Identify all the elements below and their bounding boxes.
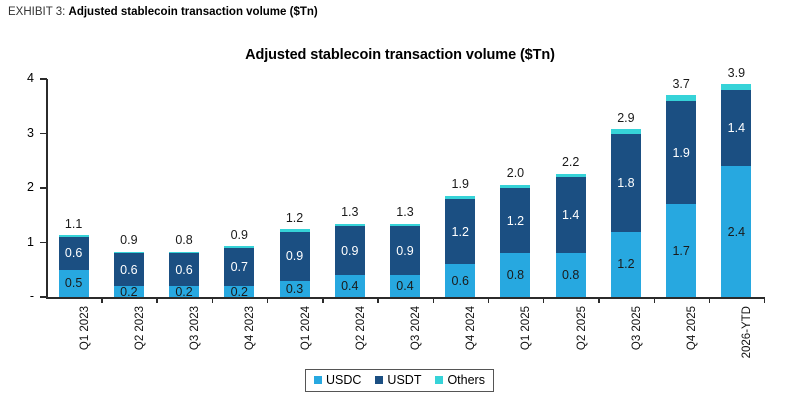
x-axis-category-label: Q3 2023 <box>189 306 201 350</box>
bar-segment-usdt: 1.8 <box>611 134 641 232</box>
bar-group: 0.81.22.0 <box>500 79 530 297</box>
bar-segment-usdt: 0.9 <box>335 226 365 275</box>
bar-segment-value-label: 0.3 <box>280 283 310 296</box>
bar-segment-value-label: 1.2 <box>500 215 530 228</box>
bar-total-label: 1.3 <box>390 206 420 219</box>
bar-segment-usdt: 0.7 <box>224 248 254 286</box>
bar-segment-value-label: 0.5 <box>59 277 89 290</box>
bar-segment-usdc: 0.6 <box>445 264 475 297</box>
bar-segment-value-label: 0.8 <box>500 269 530 282</box>
legend-item-label: USDC <box>326 373 361 387</box>
x-axis-category-label: Q2 2023 <box>134 306 146 350</box>
bar-segment-others <box>224 246 254 248</box>
bar-segment-value-label: 0.9 <box>280 250 310 263</box>
bar-segment-others <box>335 224 365 226</box>
bar-segment-others <box>721 84 751 89</box>
bar-segment-value-label: 1.4 <box>556 209 586 222</box>
bar-group: 0.61.21.9 <box>445 79 475 297</box>
bar-total-label: 0.9 <box>114 234 144 247</box>
x-axis-tick <box>377 297 378 303</box>
x-axis-tick <box>267 297 268 303</box>
x-axis-tick <box>212 297 213 303</box>
x-axis-tick <box>654 297 655 303</box>
y-axis-tick-label: 3 <box>4 128 34 138</box>
legend-item-label: USDT <box>387 373 421 387</box>
x-axis-category-label: Q1 2023 <box>79 306 91 350</box>
bar-segment-others <box>114 252 144 254</box>
legend-item[interactable]: USDT <box>375 373 421 387</box>
x-axis-category-label: Q2 2024 <box>355 306 367 350</box>
bar-segment-usdt: 0.6 <box>169 253 199 286</box>
bar-segment-usdc: 0.2 <box>114 286 144 297</box>
bar-segment-value-label: 0.9 <box>335 245 365 258</box>
bar-group: 0.30.91.2 <box>280 79 310 297</box>
bar-segment-usdc: 0.8 <box>556 253 586 297</box>
chart-plot-area: -1234 0.50.61.10.20.60.90.20.60.80.20.70… <box>0 0 800 408</box>
bar-segment-value-label: 0.2 <box>224 286 254 299</box>
bar-group: 0.20.60.8 <box>169 79 199 297</box>
legend-item[interactable]: Others <box>435 373 485 387</box>
x-axis-tick <box>101 297 102 303</box>
x-axis-tick <box>543 297 544 303</box>
bar-segment-usdt: 1.2 <box>445 199 475 264</box>
bar-segment-usdt: 0.6 <box>114 253 144 286</box>
bar-segment-value-label: 0.6 <box>445 275 475 288</box>
bar-group: 0.20.70.9 <box>224 79 254 297</box>
bar-segment-others <box>280 229 310 231</box>
bar-group: 1.71.93.7 <box>666 79 696 297</box>
bar-segment-value-label: 0.6 <box>59 247 89 260</box>
bar-total-label: 1.9 <box>445 178 475 191</box>
bar-segment-value-label: 0.4 <box>390 280 420 293</box>
bar-group: 0.40.91.3 <box>335 79 365 297</box>
x-axis-tick <box>433 297 434 303</box>
bar-segment-value-label: 1.2 <box>611 258 641 271</box>
bar-segment-others <box>500 185 530 188</box>
bar-total-label: 0.9 <box>224 229 254 242</box>
bar-segment-value-label: 0.9 <box>390 245 420 258</box>
legend-item[interactable]: USDC <box>314 373 361 387</box>
bar-segment-value-label: 1.9 <box>666 147 696 160</box>
bar-segment-usdc: 1.7 <box>666 204 696 297</box>
bar-segment-usdc: 1.2 <box>611 232 641 297</box>
y-axis-tick-label: 4 <box>4 73 34 83</box>
bars-layer: 0.50.61.10.20.60.90.20.60.80.20.70.90.30… <box>46 79 764 297</box>
bar-segment-usdc: 0.3 <box>280 281 310 297</box>
bar-total-label: 3.7 <box>666 78 696 91</box>
bar-segment-value-label: 1.8 <box>611 177 641 190</box>
bar-total-label: 1.1 <box>59 218 89 231</box>
x-axis-category-label: Q1 2025 <box>520 306 532 350</box>
x-axis-category-label: Q2 2025 <box>576 306 588 350</box>
bar-segment-value-label: 1.2 <box>445 226 475 239</box>
y-axis-tick-label: 2 <box>4 182 34 192</box>
bar-total-label: 1.2 <box>280 212 310 225</box>
y-axis-tick-label: 1 <box>4 237 34 247</box>
bar-segment-usdc: 0.4 <box>390 275 420 297</box>
x-axis-tick <box>764 297 765 303</box>
bar-segment-usdt: 1.4 <box>556 177 586 253</box>
chart-legend: USDCUSDTOthers <box>305 369 494 392</box>
bar-group: 1.21.82.9 <box>611 79 641 297</box>
bar-segment-usdc: 0.8 <box>500 253 530 297</box>
bar-segment-others <box>556 174 586 177</box>
x-axis-category-label: Q1 2024 <box>300 306 312 350</box>
bar-segment-value-label: 0.2 <box>169 286 199 299</box>
bar-segment-usdt: 0.9 <box>390 226 420 275</box>
bar-segment-value-label: 0.6 <box>169 264 199 277</box>
bar-segment-usdt: 1.4 <box>721 90 751 166</box>
legend-item-label: Others <box>447 373 485 387</box>
bar-segment-usdc: 0.4 <box>335 275 365 297</box>
bar-segment-usdt: 0.9 <box>280 232 310 281</box>
bar-group: 2.41.43.9 <box>721 79 751 297</box>
bar-segment-value-label: 1.4 <box>721 122 751 135</box>
bar-total-label: 3.9 <box>721 67 751 80</box>
x-axis-tick <box>156 297 157 303</box>
bar-group: 0.50.61.1 <box>59 79 89 297</box>
x-axis-tick <box>322 297 323 303</box>
bar-segment-value-label: 1.7 <box>666 245 696 258</box>
bar-total-label: 2.0 <box>500 167 530 180</box>
bar-segment-usdt: 1.9 <box>666 101 696 205</box>
bar-total-label: 1.3 <box>335 206 365 219</box>
x-axis-tick <box>488 297 489 303</box>
x-axis-category-label: Q4 2025 <box>686 306 698 350</box>
bar-segment-usdt: 1.2 <box>500 188 530 253</box>
bar-segment-others <box>445 196 475 199</box>
bar-segment-value-label: 0.6 <box>114 264 144 277</box>
bar-segment-usdc: 0.2 <box>169 286 199 297</box>
bar-total-label: 2.9 <box>611 112 641 125</box>
bar-total-label: 2.2 <box>556 156 586 169</box>
legend-swatch-icon <box>314 376 322 384</box>
legend-swatch-icon <box>435 376 443 384</box>
bar-segment-value-label: 0.4 <box>335 280 365 293</box>
x-axis-tick <box>709 297 710 303</box>
bar-segment-value-label: 0.7 <box>224 261 254 274</box>
x-axis-line <box>46 297 764 299</box>
bar-segment-value-label: 2.4 <box>721 226 751 239</box>
bar-segment-others <box>390 224 420 226</box>
bar-segment-value-label: 0.8 <box>556 269 586 282</box>
bar-segment-usdc: 2.4 <box>721 166 751 297</box>
bar-segment-usdc: 0.2 <box>224 286 254 297</box>
bar-total-label: 0.8 <box>169 234 199 247</box>
bar-group: 0.40.91.3 <box>390 79 420 297</box>
bar-segment-usdc: 0.5 <box>59 270 89 297</box>
bar-segment-others <box>59 235 89 237</box>
bar-segment-others <box>611 129 641 133</box>
y-axis-tick-label: - <box>4 291 34 301</box>
legend-swatch-icon <box>375 376 383 384</box>
x-axis-category-label: Q3 2025 <box>631 306 643 350</box>
bar-segment-others <box>169 252 199 254</box>
bar-group: 0.20.60.9 <box>114 79 144 297</box>
x-axis-category-label: 2026-YTD <box>741 306 753 358</box>
bar-segment-usdt: 0.6 <box>59 237 89 270</box>
bar-group: 0.81.42.2 <box>556 79 586 297</box>
x-axis-category-label: Q4 2024 <box>465 306 477 350</box>
x-axis-tick <box>598 297 599 303</box>
x-axis-category-label: Q4 2023 <box>244 306 256 350</box>
bar-segment-others <box>666 95 696 100</box>
bar-segment-value-label: 0.2 <box>114 286 144 299</box>
x-axis-category-label: Q3 2024 <box>410 306 422 350</box>
